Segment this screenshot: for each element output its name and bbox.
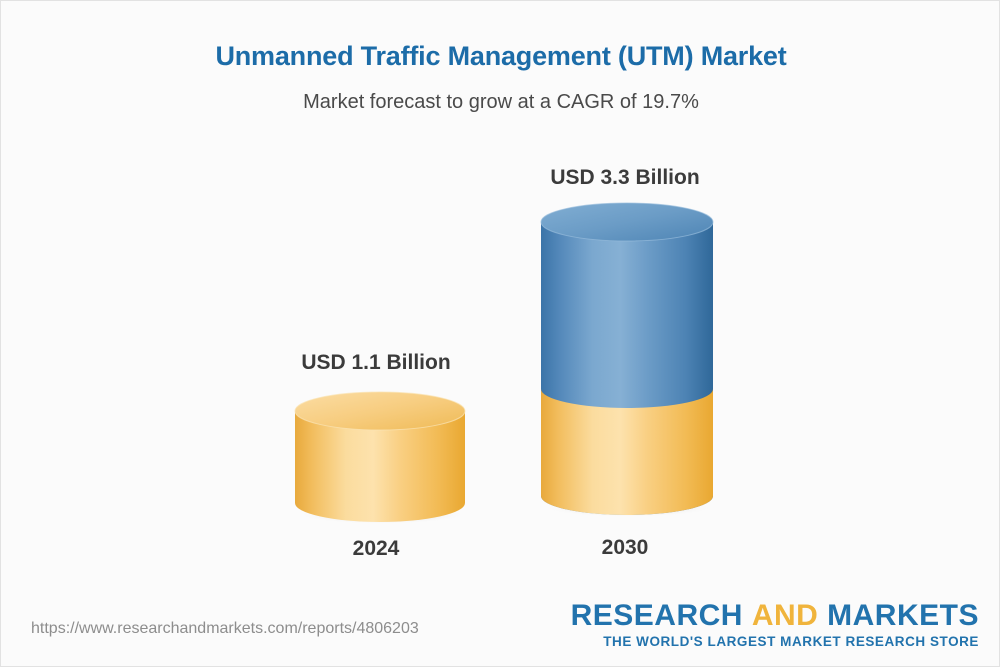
cylinder-2030[interactable] (536, 200, 718, 518)
brand-tagline: THE WORLD'S LARGEST MARKET RESEARCH STOR… (571, 634, 979, 649)
brand-word-and: AND (752, 599, 819, 632)
source-url-link[interactable]: https://www.researchandmarkets.com/repor… (31, 620, 419, 638)
category-label-2024: 2024 (276, 537, 476, 561)
plot-area: USD 1.1 Billion (1, 1, 1000, 601)
value-label-2030: USD 3.3 Billion (523, 166, 727, 190)
value-label-2024: USD 1.1 Billion (276, 351, 476, 375)
brand-word-markets: MARKETS (827, 599, 979, 632)
chart-canvas: Unmanned Traffic Management (UTM) Market… (0, 0, 1000, 667)
brand-wordmark: RESEARCH AND MARKETS (571, 600, 979, 632)
category-label-2030: 2030 (523, 536, 727, 560)
cylinder-2024[interactable] (290, 391, 470, 523)
brand-logo[interactable]: RESEARCH AND MARKETS THE WORLD'S LARGEST… (571, 600, 979, 649)
footer: https://www.researchandmarkets.com/repor… (1, 594, 1000, 666)
brand-word-research: RESEARCH (571, 599, 743, 632)
